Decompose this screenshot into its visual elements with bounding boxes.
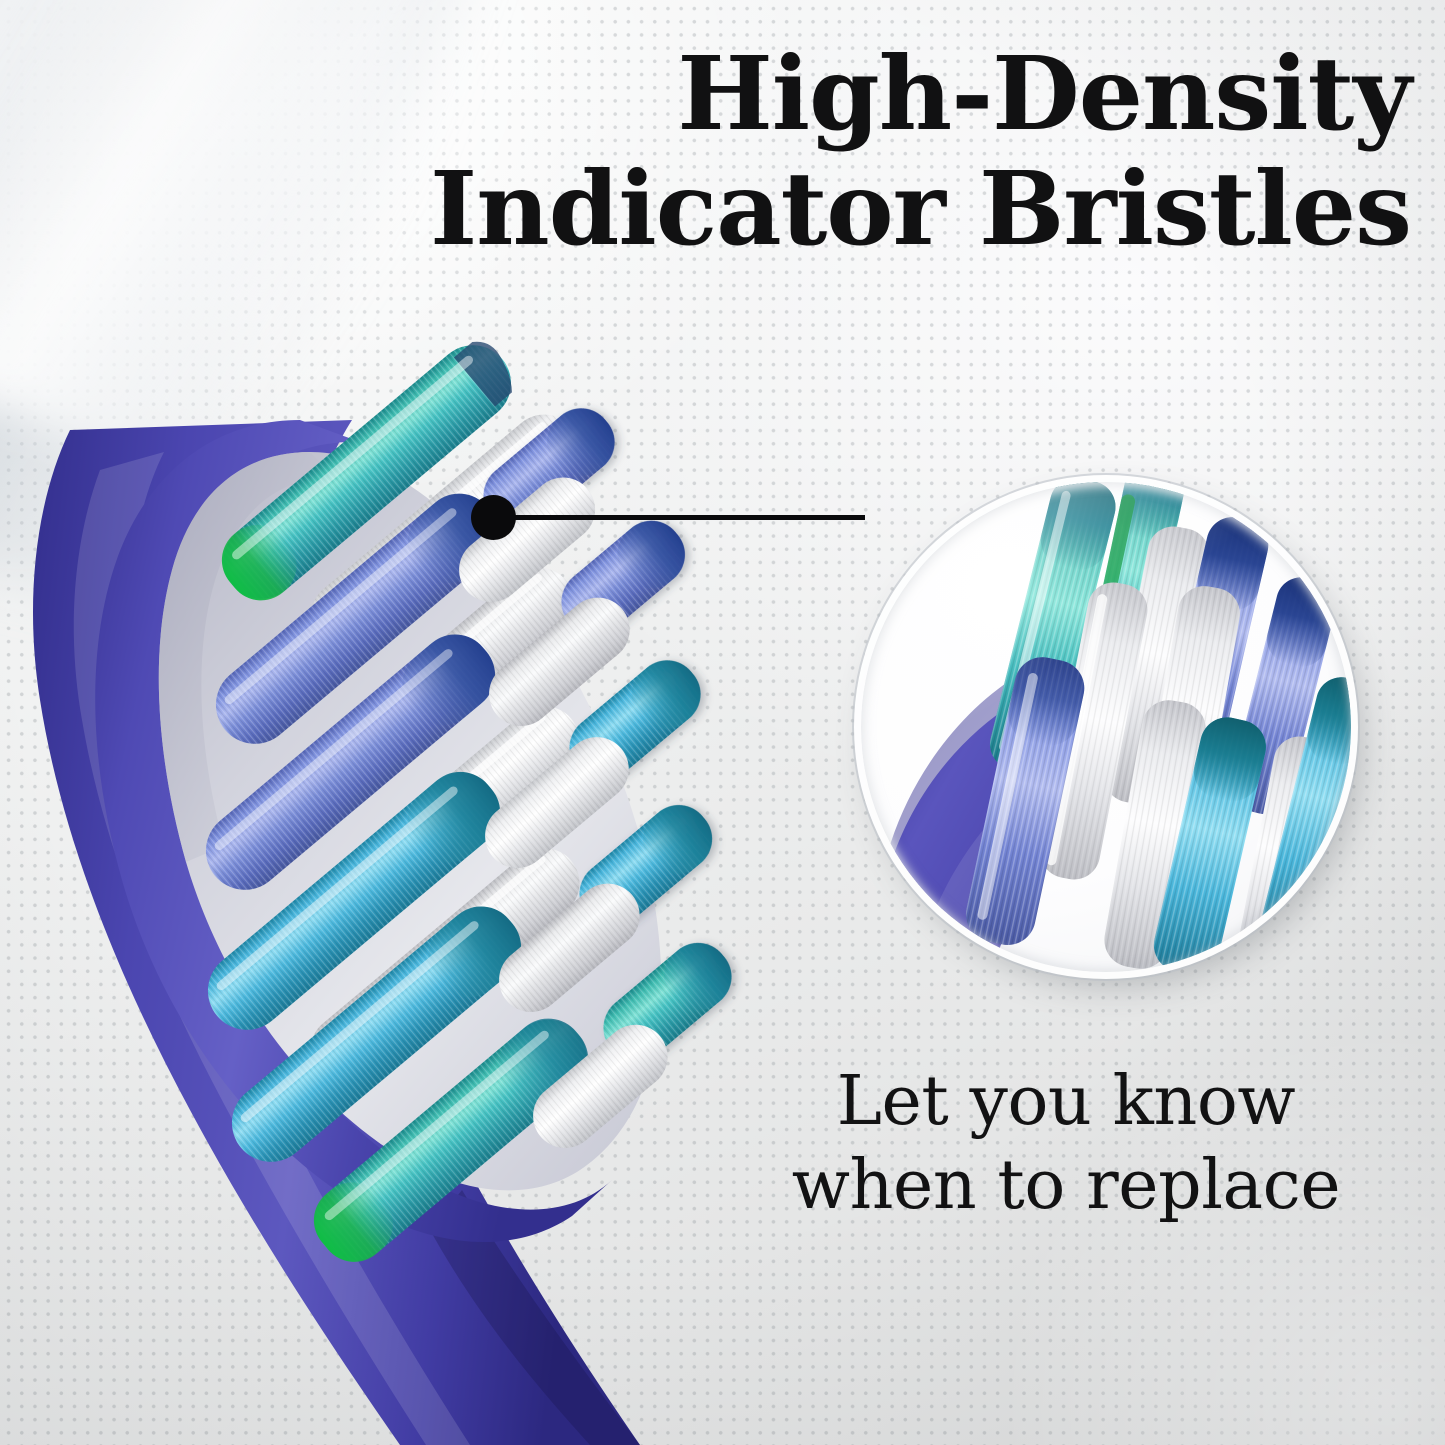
page-title: High-Density Indicator Bristles [0,36,1411,266]
product-infographic: High-Density Indicator Bristles Let you … [0,0,1445,1445]
magnifier-content [861,482,1351,972]
callout-dot [471,495,516,540]
callout-connector-line [493,515,865,520]
caption-text: Let you know when to replace [742,1060,1390,1228]
magnifier-bristle-tufts [961,482,1351,972]
magnifier-circle [861,482,1351,972]
